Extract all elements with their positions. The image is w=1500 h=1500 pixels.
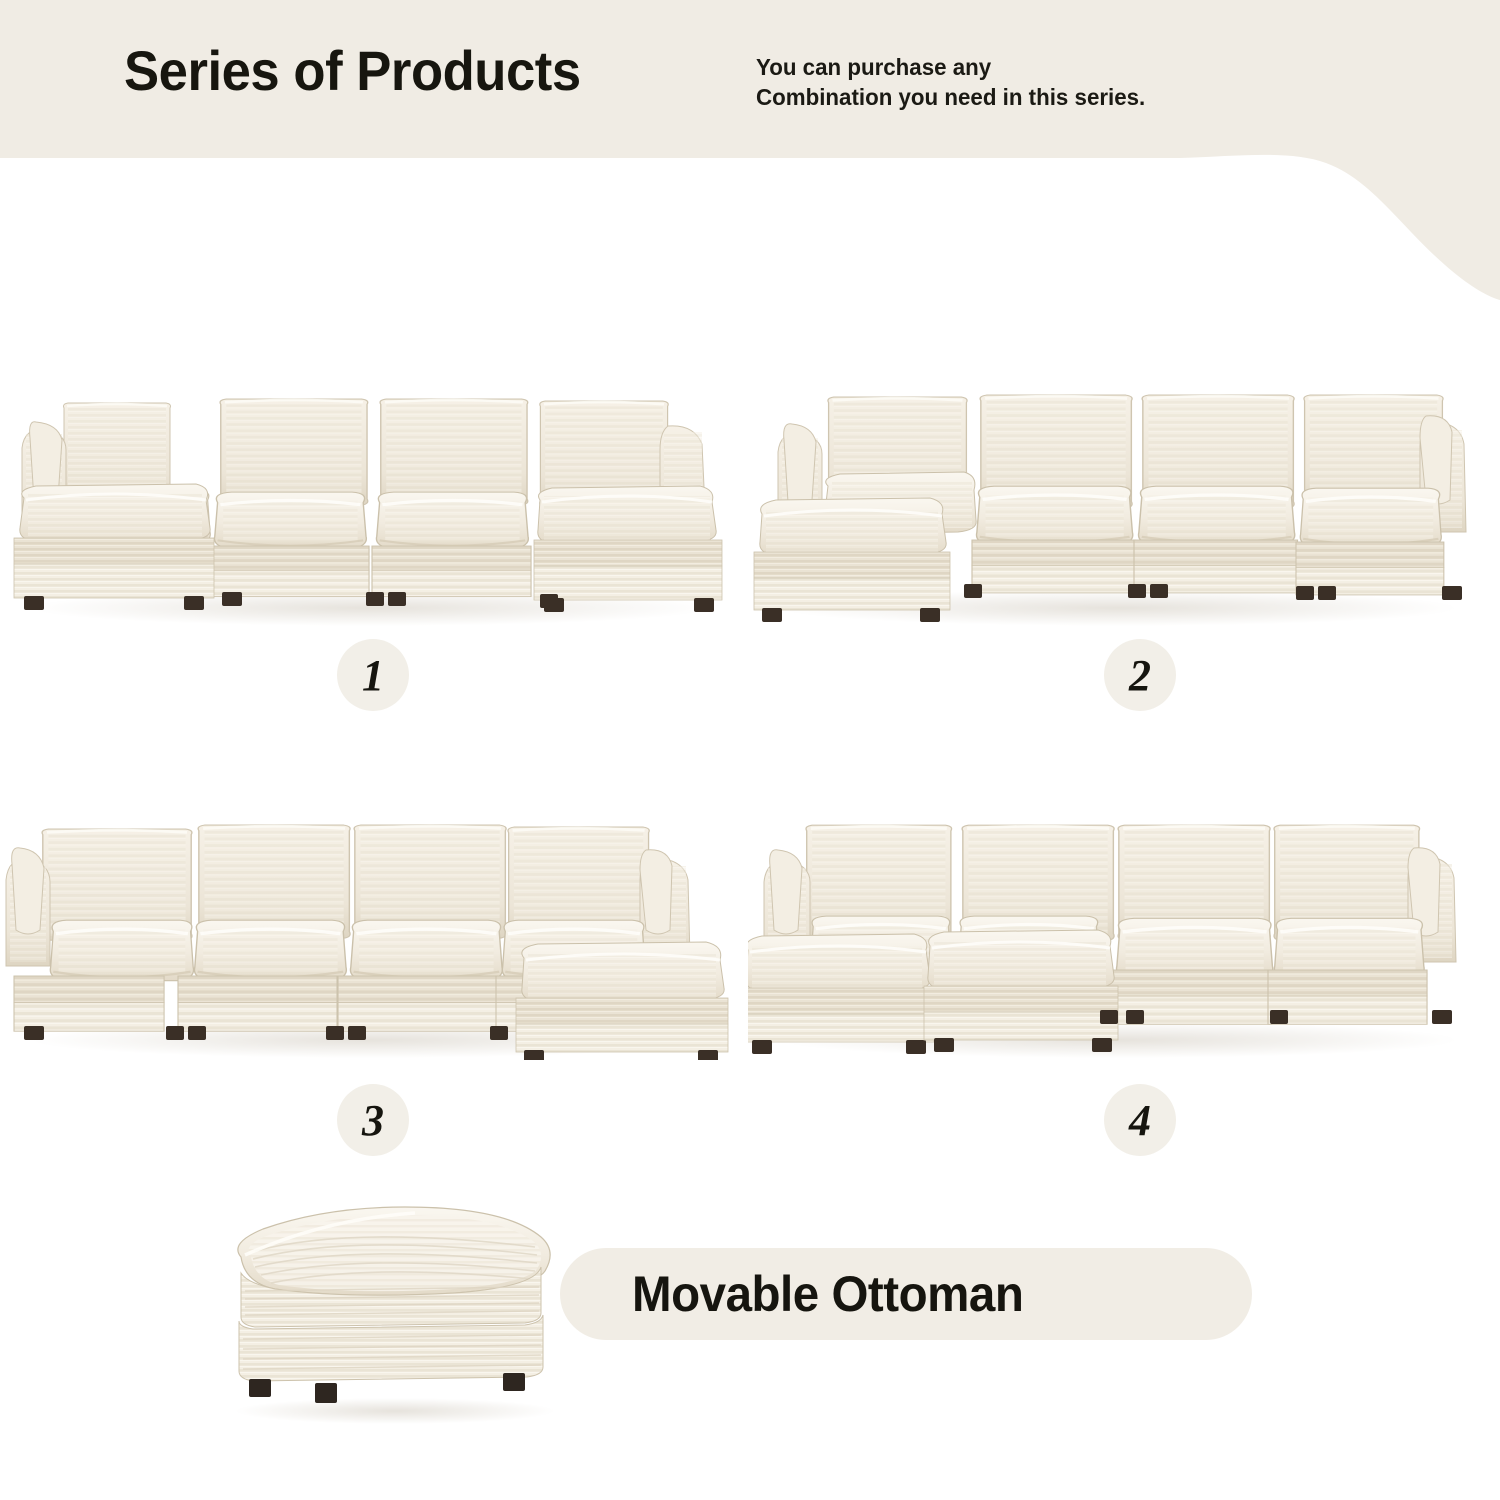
foot	[762, 608, 782, 622]
foot	[249, 1379, 271, 1397]
configuration-2[interactable]	[748, 380, 1488, 635]
foot	[1442, 586, 1462, 600]
config-badge-4-label: 4	[1129, 1095, 1151, 1146]
foot	[366, 592, 384, 606]
movable-ottoman-banner: Movable Ottoman	[560, 1248, 1252, 1340]
foot	[694, 598, 714, 612]
config-badge-4: 4	[1104, 1084, 1176, 1156]
foot	[1100, 1010, 1118, 1024]
foot	[326, 1026, 344, 1040]
foot	[24, 596, 44, 610]
configuration-3[interactable]	[0, 810, 740, 1065]
foot	[964, 584, 982, 598]
ottoman-left-2	[754, 498, 950, 622]
foot	[1432, 1010, 1452, 1024]
ottoman-right-1	[534, 486, 722, 612]
foot	[934, 1038, 954, 1052]
foot	[348, 1026, 366, 1040]
config-badge-1: 1	[337, 639, 409, 711]
foot	[388, 592, 406, 606]
foot	[24, 1026, 44, 1040]
foot	[752, 1040, 772, 1054]
foot	[166, 1026, 184, 1040]
config-badge-2-label: 2	[1129, 650, 1151, 701]
foot	[906, 1040, 926, 1054]
ottoman-right-3	[516, 942, 728, 1060]
foot	[1150, 584, 1168, 598]
foot	[1128, 584, 1146, 598]
movable-ottoman-label: Movable Ottoman	[632, 1265, 1023, 1323]
page-subtitle: You can purchase any Combination you nee…	[756, 52, 1145, 113]
config-badge-2: 2	[1104, 639, 1176, 711]
configuration-1[interactable]	[0, 380, 740, 635]
foot	[540, 594, 558, 608]
page-title: Series of Products	[124, 38, 581, 103]
ottoman-left-1	[14, 484, 214, 610]
foot	[490, 1026, 508, 1040]
foot	[315, 1383, 337, 1403]
foot	[698, 1050, 718, 1060]
sofa-illustration-3	[0, 810, 740, 1060]
product-series-infographic: Series of Products You can purchase any …	[0, 0, 1500, 1500]
foot	[920, 608, 940, 622]
config-badge-1-label: 1	[362, 650, 384, 701]
configuration-4[interactable]	[748, 810, 1488, 1065]
foot	[222, 592, 242, 606]
config-badge-3-label: 3	[362, 1095, 384, 1146]
foot	[184, 596, 204, 610]
movable-ottoman-product[interactable]	[205, 1195, 585, 1430]
foot	[1318, 586, 1336, 600]
foot	[1092, 1038, 1112, 1052]
sofa-illustration-2	[748, 380, 1488, 630]
foot	[524, 1050, 544, 1060]
foot	[1126, 1010, 1144, 1024]
foot	[188, 1026, 206, 1040]
foot	[1270, 1010, 1288, 1024]
ottoman-left-b-4	[924, 930, 1118, 1052]
foot	[503, 1373, 525, 1391]
sofa-illustration-4	[748, 810, 1488, 1060]
foot	[1296, 586, 1314, 600]
config-badge-3: 3	[337, 1084, 409, 1156]
sofa-illustration-1	[0, 380, 740, 630]
ottoman-illustration	[205, 1195, 585, 1425]
ottoman-left-a-4	[748, 934, 934, 1054]
